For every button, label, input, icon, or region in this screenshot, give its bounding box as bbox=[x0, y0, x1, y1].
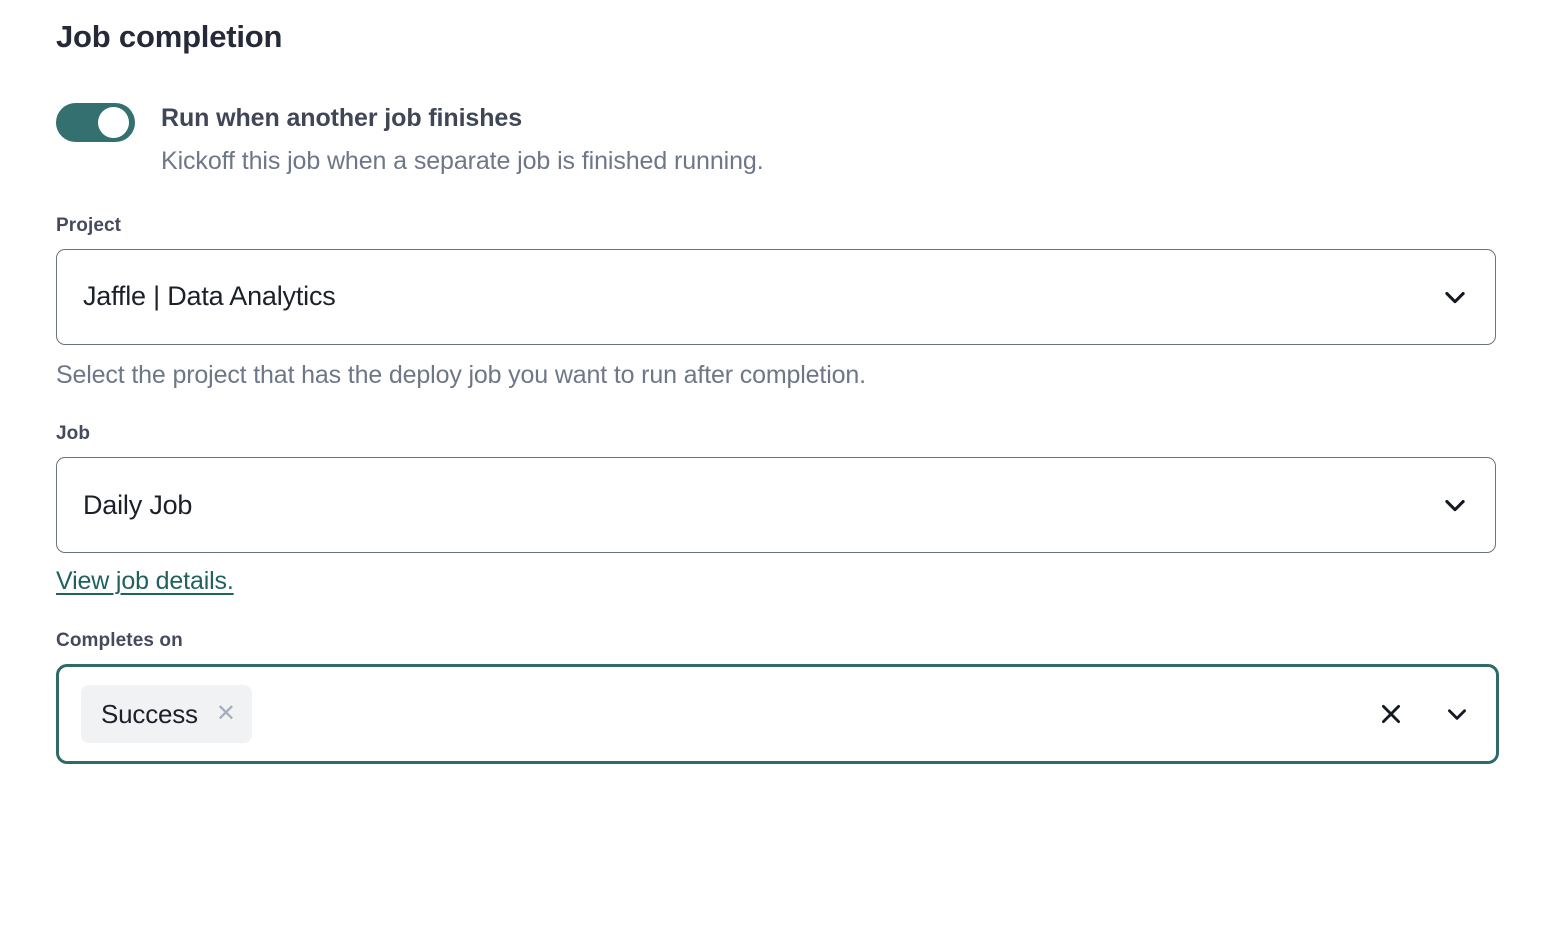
job-select[interactable]: Daily Job bbox=[56, 457, 1496, 553]
job-completion-panel: Job completion Run when another job fini… bbox=[0, 0, 1564, 936]
chevron-down-icon[interactable] bbox=[1444, 701, 1470, 727]
project-selected-value: Jaffle | Data Analytics bbox=[83, 281, 336, 312]
toggle-label: Run when another job finishes bbox=[161, 102, 764, 136]
project-select[interactable]: Jaffle | Data Analytics bbox=[56, 249, 1496, 345]
toggle-knob bbox=[98, 107, 129, 138]
multiselect-actions bbox=[1378, 701, 1470, 727]
chevron-down-icon[interactable] bbox=[1441, 283, 1469, 311]
selected-tag-label: Success bbox=[101, 699, 198, 730]
run-when-another-job-finishes-toggle[interactable] bbox=[56, 103, 135, 142]
page-title: Job completion bbox=[56, 0, 1500, 55]
completes-on-multiselect[interactable]: Success ✕ bbox=[56, 664, 1499, 764]
toggle-text-block: Run when another job finishes Kickoff th… bbox=[161, 101, 764, 179]
job-label: Job bbox=[56, 423, 1500, 445]
view-job-details-link[interactable]: View job details. bbox=[56, 567, 234, 596]
completes-on-field-group: Completes on Success ✕ bbox=[56, 630, 1500, 764]
toggle-description: Kickoff this job when a separate job is … bbox=[161, 145, 764, 179]
project-field-group: Project Jaffle | Data Analytics Select t… bbox=[56, 215, 1500, 392]
close-icon[interactable]: ✕ bbox=[216, 702, 236, 726]
job-selected-value: Daily Job bbox=[83, 490, 192, 521]
project-helper-text: Select the project that has the deploy j… bbox=[56, 359, 1500, 392]
run-when-another-job-finishes-row: Run when another job finishes Kickoff th… bbox=[56, 101, 1500, 179]
job-field-group: Job Daily Job View job details. bbox=[56, 423, 1500, 596]
chevron-down-icon[interactable] bbox=[1441, 491, 1469, 519]
close-icon[interactable] bbox=[1378, 701, 1404, 727]
project-label: Project bbox=[56, 215, 1500, 237]
selected-tag-success[interactable]: Success ✕ bbox=[81, 685, 252, 743]
completes-on-label: Completes on bbox=[56, 630, 1500, 652]
